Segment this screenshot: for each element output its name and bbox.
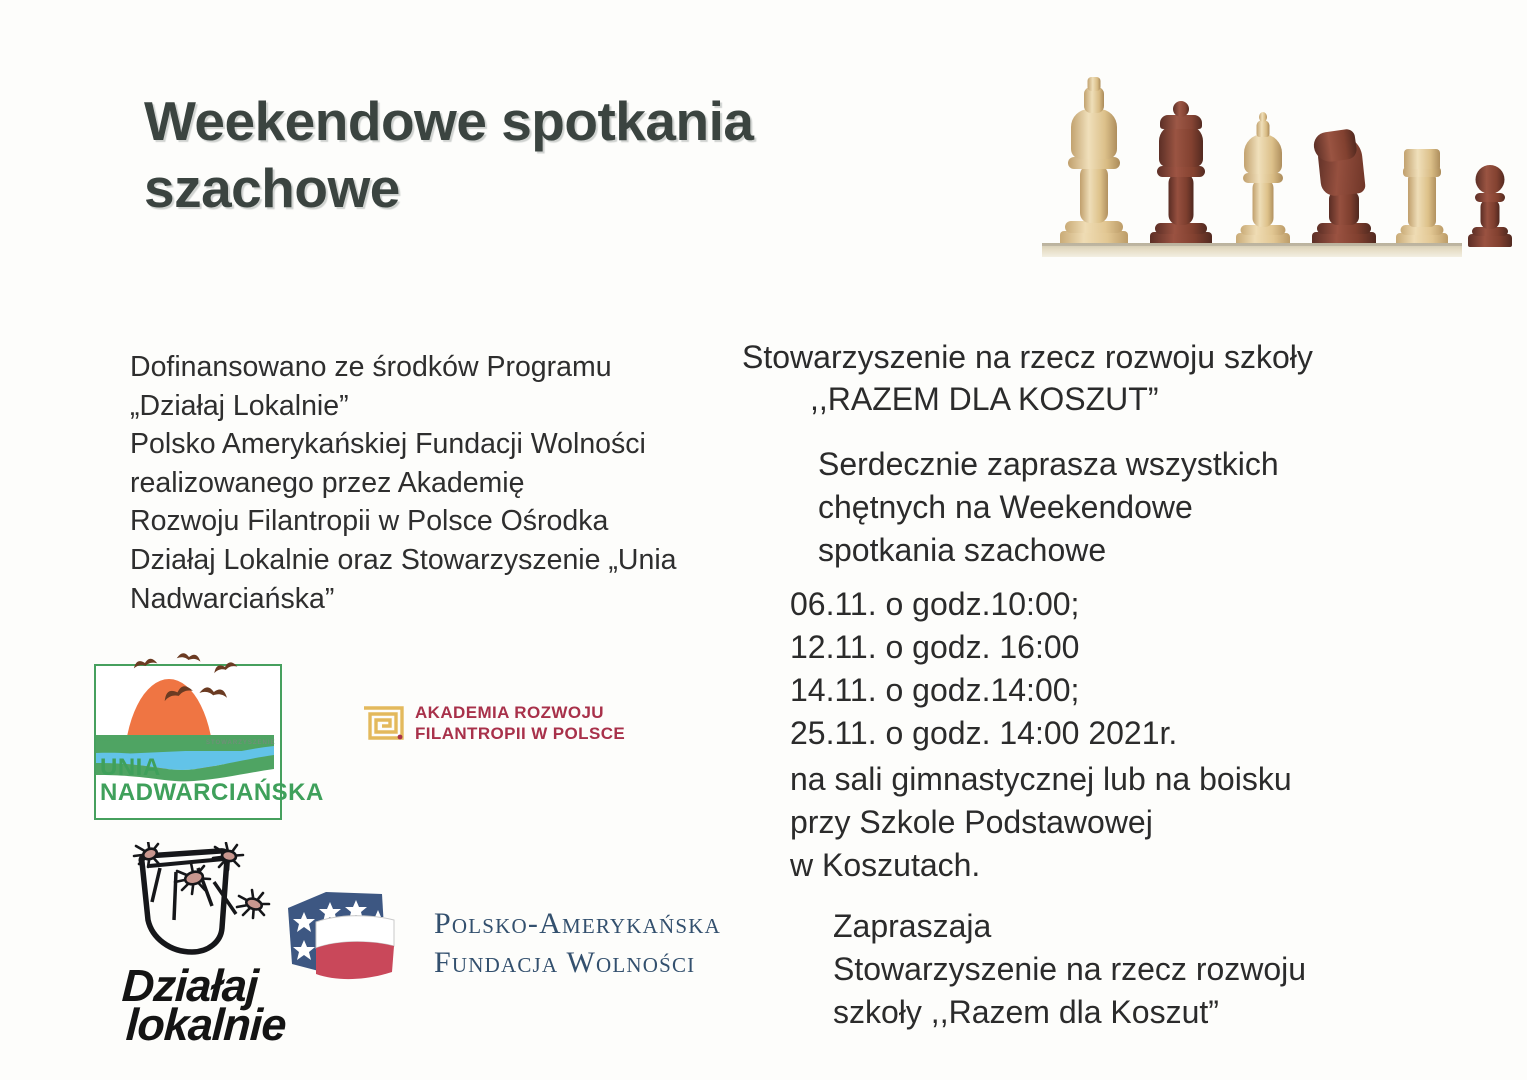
pafw-wordmark: Polsko-Amerykańska Fundacja Wolności [434,904,721,982]
funding-statement: Dofinansowano ze środków Programu „Dział… [130,348,790,618]
chess-piece-rook [1394,141,1450,247]
flag-with-stars-icon [282,890,410,990]
venue-text: na sali gimnastycznej lub na boisku przy… [790,758,1450,887]
association-heading-line1: Stowarzyszenie na rzecz rozwoju szkoły [742,339,1313,375]
unia-word-line2: NADWARCIAŃSKA [100,779,324,807]
chess-pieces-photo [1036,72,1476,277]
event-date-4: 25.11. o godz. 14:00 2021r. [790,712,1430,755]
event-date-2: 12.11. o godz. 16:00 [790,626,1430,669]
bird-icon [175,649,202,665]
spiral-glyph-icon [362,706,404,740]
page-title: Weekendowe spotkania szachowe [144,88,904,222]
chess-board-surface [1042,243,1462,257]
event-dates-list: 06.11. o godz.10:00; 12.11. o godz. 16:0… [790,583,1430,755]
chess-pieces-row [1036,75,1476,261]
association-heading: Stowarzyszenie na rzecz rozwoju szkoły ,… [742,337,1482,420]
unia-nadwarcianska-logo: STOWARZYSZENIE UNIA NADWARCIAŃSKA [88,655,296,827]
chess-piece-pawn [1466,159,1514,247]
association-heading-line2: ,,RAZEM DLA KOSZUT” [742,379,1482,421]
event-date-3: 14.11. o godz.14:00; [790,669,1430,712]
lokalnie-word: lokalnie [125,999,287,1051]
arfp-wordmark: AKADEMIA ROZWOJU FILANTROPII W POLSCE [415,703,625,744]
polsko-amerykanska-fundacja-wolnosci-logo: Polsko-Amerykańska Fundacja Wolności [282,888,812,1000]
closing-invitation-text: Zapraszaja Stowarzyszenie na rzecz rozwo… [833,905,1493,1034]
chess-piece-king [1058,75,1130,247]
unia-word-line1: UNIA [100,754,161,782]
unia-micro-label: STOWARZYSZENIE [206,740,276,746]
chess-piece-queen [1148,95,1214,247]
pocket-with-flowers-icon [116,842,281,970]
event-date-1: 06.11. o godz.10:00; [790,583,1430,626]
chess-piece-knight [1308,115,1380,247]
chess-piece-bishop [1234,107,1292,247]
poster-canvas: Weekendowe spotkania szachowe [0,0,1527,1080]
invitation-text: Serdecznie zaprasza wszystkich chętnych … [818,443,1468,572]
dzialaj-lokalnie-logo: Działaj lokalnie [112,842,287,1054]
akademia-rozwoju-filantropii-logo: AKADEMIA ROZWOJU FILANTROPII W POLSCE [362,700,642,756]
